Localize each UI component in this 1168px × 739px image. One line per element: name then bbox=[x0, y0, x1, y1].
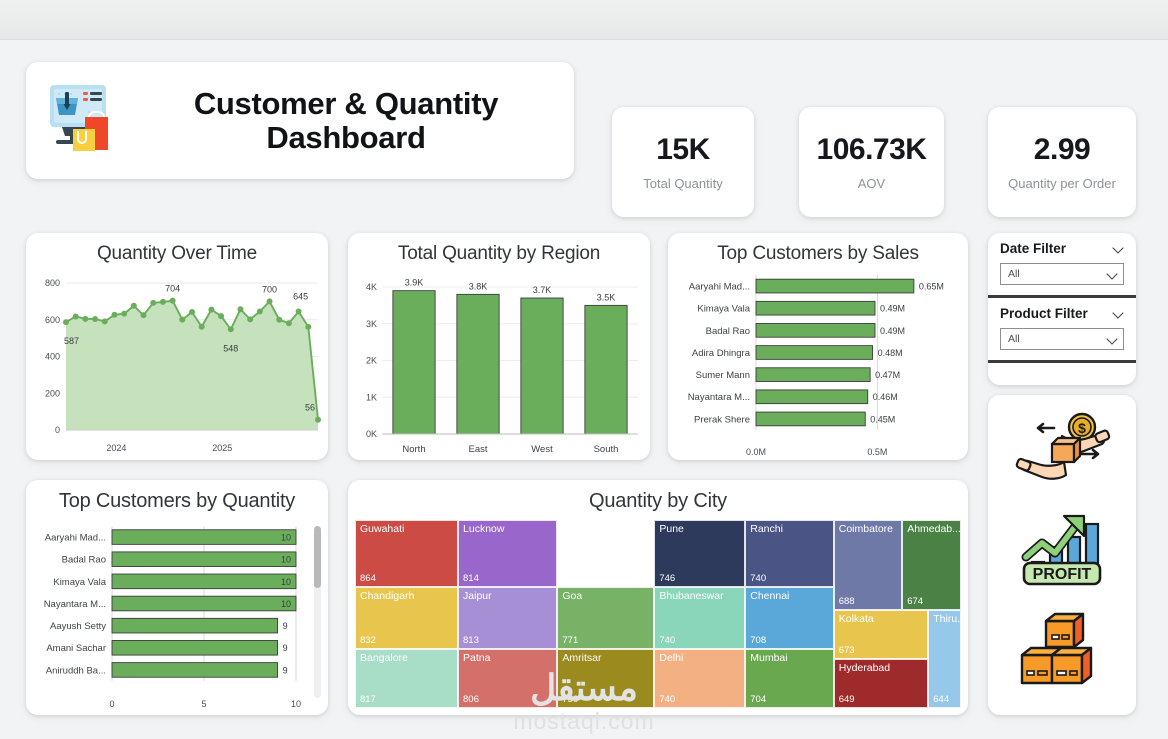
dashboard-title-card: Customer & Quantity Dashboard bbox=[26, 62, 574, 179]
treemap-body: Guwahati864Chandigarh832Bangalore817Luck… bbox=[355, 520, 961, 708]
treemap-tile[interactable]: Bangalore817 bbox=[355, 649, 458, 708]
treemap-tile[interactable]: Kolkata673 bbox=[834, 610, 929, 659]
kpi-card-aov: 106.73K AOV bbox=[799, 107, 944, 217]
svg-text:3.9K: 3.9K bbox=[405, 278, 424, 288]
svg-text:3.5K: 3.5K bbox=[597, 292, 616, 302]
treemap-tile-label: Amritsar bbox=[562, 652, 601, 664]
svg-text:0.46M: 0.46M bbox=[873, 392, 898, 402]
svg-text:0.45M: 0.45M bbox=[870, 414, 895, 424]
svg-text:9: 9 bbox=[283, 621, 288, 631]
treemap-tile[interactable]: Lucknow814 bbox=[458, 520, 557, 587]
svg-text:North: North bbox=[402, 444, 425, 455]
treemap-tile-label: Bangalore bbox=[360, 652, 408, 664]
svg-text:548: 548 bbox=[223, 343, 238, 353]
profit-label: PROFIT bbox=[1033, 566, 1092, 583]
treemap-tile-label: Hyderabad bbox=[839, 662, 890, 674]
treemap-tile-value: 806 bbox=[463, 694, 479, 705]
kpi-card-total-quantity: 15K Total Quantity bbox=[612, 107, 754, 217]
treemap-tile-label: Mumbai bbox=[750, 652, 787, 664]
svg-text:9: 9 bbox=[283, 643, 288, 653]
chart-top-customers-by-sales[interactable]: Top Customers by Sales 0.0M0.5MAaryahi M… bbox=[668, 233, 968, 460]
treemap-tile-label: Ahmedab... bbox=[907, 523, 961, 535]
chart-quantity-over-time[interactable]: Quantity Over Time 020040060080020242025… bbox=[26, 233, 328, 460]
svg-text:0.49M: 0.49M bbox=[880, 304, 905, 314]
treemap-tile[interactable]: Guwahati864 bbox=[355, 520, 458, 587]
svg-text:0.47M: 0.47M bbox=[875, 370, 900, 380]
svg-text:0.48M: 0.48M bbox=[878, 348, 903, 358]
treemap-tile-value: 688 bbox=[839, 596, 855, 607]
treemap-tile-label: Thiru... bbox=[933, 613, 961, 625]
svg-text:587: 587 bbox=[64, 336, 79, 346]
svg-text:Badal Rao: Badal Rao bbox=[706, 326, 750, 337]
svg-text:600: 600 bbox=[45, 315, 60, 325]
svg-text:Nayantara M...: Nayantara M... bbox=[44, 599, 106, 610]
treemap-tile-value: 704 bbox=[750, 694, 766, 705]
svg-text:Kimaya Vala: Kimaya Vala bbox=[697, 304, 750, 315]
svg-text:Prerak Shere: Prerak Shere bbox=[694, 414, 750, 425]
treemap-tile-value: 790 bbox=[562, 573, 578, 584]
svg-text:3.7K: 3.7K bbox=[533, 285, 552, 295]
treemap-tile-label: Surat bbox=[562, 523, 587, 535]
svg-text:Adira Dhingra: Adira Dhingra bbox=[692, 348, 751, 359]
svg-text:0.0M: 0.0M bbox=[746, 447, 766, 457]
treemap-tile-value: 864 bbox=[360, 573, 376, 584]
svg-text:Aaryahi Mad...: Aaryahi Mad... bbox=[689, 281, 750, 292]
decorative-icons-panel: $ bbox=[988, 395, 1136, 715]
chart-title: Top Customers by Quantity bbox=[26, 480, 328, 513]
svg-text:0.5M: 0.5M bbox=[867, 447, 887, 457]
chevron-down-icon[interactable] bbox=[1113, 310, 1124, 317]
treemap-tile-value: 740 bbox=[659, 635, 675, 646]
svg-text:645: 645 bbox=[293, 291, 308, 301]
svg-text:10: 10 bbox=[291, 699, 301, 709]
svg-text:Nayantara M...: Nayantara M... bbox=[688, 392, 750, 403]
treemap-tile[interactable]: Ranchi740 bbox=[745, 520, 833, 587]
treemap-tile[interactable]: Bhubaneswar740 bbox=[654, 587, 745, 649]
treemap-tile-label: Ranchi bbox=[750, 523, 783, 535]
svg-text:Badal Rao: Badal Rao bbox=[62, 555, 106, 566]
divider bbox=[988, 360, 1136, 363]
treemap-tile-value: 740 bbox=[659, 694, 675, 705]
treemap-tile[interactable]: Chennai708 bbox=[745, 587, 833, 649]
treemap-tile-label: Delhi bbox=[659, 652, 683, 664]
slicer-product-filter[interactable]: Product Filter All bbox=[988, 298, 1136, 360]
kpi-value: 15K bbox=[656, 133, 710, 167]
treemap-tile[interactable]: Surat790 bbox=[557, 520, 654, 587]
svg-text:10: 10 bbox=[281, 532, 291, 542]
profit-growth-chart-icon: PROFIT bbox=[1012, 507, 1112, 596]
area-chart-svg: 02004006008002024202558770454870064556 bbox=[26, 261, 328, 460]
slicer-title: Product Filter bbox=[1000, 306, 1088, 321]
treemap-tile-value: 644 bbox=[933, 694, 949, 705]
kpi-label: Total Quantity bbox=[643, 176, 723, 191]
treemap-tile[interactable]: Patna806 bbox=[458, 649, 557, 708]
svg-text:0: 0 bbox=[55, 425, 60, 435]
app-chrome-strip bbox=[0, 0, 1168, 40]
treemap-tile-value: 832 bbox=[360, 635, 376, 646]
svg-text:Sumer Mann: Sumer Mann bbox=[696, 370, 750, 381]
slicer-title: Date Filter bbox=[1000, 241, 1066, 256]
svg-text:Amani Sachar: Amani Sachar bbox=[46, 643, 106, 654]
kpi-card-quantity-per-order: 2.99 Quantity per Order bbox=[988, 107, 1136, 217]
treemap-tile[interactable]: Chandigarh832 bbox=[355, 587, 458, 649]
svg-text:$: $ bbox=[1078, 420, 1086, 436]
treemap-tile-label: Patna bbox=[463, 652, 490, 664]
svg-text:3.8K: 3.8K bbox=[469, 281, 488, 291]
svg-text:Aayush Setty: Aayush Setty bbox=[50, 621, 106, 632]
treemap-tile-value: 746 bbox=[659, 573, 675, 584]
svg-text:2025: 2025 bbox=[212, 443, 232, 453]
treemap-tile[interactable]: Delhi740 bbox=[654, 649, 745, 708]
treemap-tile-label: Chennai bbox=[750, 590, 789, 602]
treemap-tile[interactable]: Ahmedab...674 bbox=[902, 520, 961, 610]
chevron-down-icon[interactable] bbox=[1113, 245, 1124, 252]
svg-text:2024: 2024 bbox=[106, 443, 126, 453]
treemap-tile[interactable]: Mumbai704 bbox=[745, 649, 833, 708]
treemap-tile-label: Kolkata bbox=[839, 613, 874, 625]
svg-text:Aniruddh Ba...: Aniruddh Ba... bbox=[46, 665, 106, 676]
treemap-tile-value: 750 bbox=[562, 694, 578, 705]
treemap-tile[interactable]: Amritsar750 bbox=[557, 649, 654, 708]
svg-text:South: South bbox=[594, 444, 619, 455]
kpi-value: 2.99 bbox=[1034, 133, 1090, 167]
svg-text:3K: 3K bbox=[366, 319, 377, 329]
stacked-boxes-icon bbox=[1012, 611, 1112, 700]
sales-hbar-chart-svg: 0.0M0.5MAaryahi Mad...0.65MKimaya Vala0.… bbox=[668, 263, 968, 460]
date-filter-value: All bbox=[1008, 268, 1020, 280]
treemap-tile-value: 674 bbox=[907, 596, 923, 607]
svg-text:0.49M: 0.49M bbox=[880, 326, 905, 336]
svg-text:200: 200 bbox=[45, 388, 60, 398]
svg-text:0K: 0K bbox=[366, 429, 377, 439]
chart-top-customers-by-quantity[interactable]: Top Customers by Quantity 0510Aaryahi Ma… bbox=[26, 480, 328, 715]
treemap-tile-label: Guwahati bbox=[360, 523, 404, 535]
svg-text:400: 400 bbox=[45, 352, 60, 362]
date-filter-dropdown[interactable]: All bbox=[1000, 263, 1124, 285]
ecommerce-monitor-shopping-icon bbox=[44, 81, 122, 160]
slicer-date-filter[interactable]: Date Filter All bbox=[988, 233, 1136, 295]
chart-scrollbar[interactable] bbox=[314, 526, 321, 698]
treemap-tile[interactable]: Jaipur813 bbox=[458, 587, 557, 649]
product-filter-dropdown[interactable]: All bbox=[1000, 328, 1124, 350]
svg-text:5: 5 bbox=[201, 699, 206, 709]
treemap-tile-value: 649 bbox=[839, 694, 855, 705]
kpi-value: 106.73K bbox=[817, 133, 927, 167]
treemap-tile-label: Goa bbox=[562, 590, 582, 602]
svg-text:56: 56 bbox=[305, 403, 315, 413]
treemap-tile-label: Coimbatore bbox=[839, 523, 893, 535]
svg-text:10: 10 bbox=[281, 599, 291, 609]
svg-text:9: 9 bbox=[283, 665, 288, 675]
svg-text:1K: 1K bbox=[366, 392, 377, 402]
svg-text:East: East bbox=[468, 444, 487, 455]
svg-text:Kimaya Vala: Kimaya Vala bbox=[53, 577, 106, 588]
product-filter-value: All bbox=[1008, 333, 1020, 345]
svg-text:West: West bbox=[531, 444, 553, 455]
chart-quantity-by-city[interactable]: Quantity by City Guwahati864Chandigarh83… bbox=[348, 480, 968, 715]
treemap-tile-value: 740 bbox=[750, 573, 766, 584]
treemap-tile-value: 813 bbox=[463, 635, 479, 646]
kpi-label: Quantity per Order bbox=[1008, 176, 1116, 191]
svg-text:4K: 4K bbox=[366, 282, 377, 292]
svg-text:800: 800 bbox=[45, 278, 60, 288]
svg-text:0: 0 bbox=[109, 699, 114, 709]
treemap-tile-value: 673 bbox=[839, 645, 855, 656]
treemap-tile-label: Bhubaneswar bbox=[659, 590, 723, 602]
treemap-tile-label: Jaipur bbox=[463, 590, 492, 602]
chart-total-quantity-by-region[interactable]: Total Quantity by Region 0K1K2K3K4K3.9KN… bbox=[348, 233, 650, 460]
svg-text:2K: 2K bbox=[366, 356, 377, 366]
treemap-tile[interactable]: Pune746 bbox=[654, 520, 745, 587]
chart-scrollbar-thumb[interactable] bbox=[314, 526, 321, 588]
page-title: Customer & Quantity Dashboard bbox=[136, 87, 556, 154]
chart-title: Top Customers by Sales bbox=[668, 233, 968, 265]
kpi-label: AOV bbox=[858, 176, 885, 191]
chart-title: Quantity by City bbox=[348, 480, 968, 513]
chevron-down-icon[interactable] bbox=[1107, 336, 1118, 343]
filters-panel: Date Filter All Product Filter All bbox=[988, 233, 1136, 385]
svg-text:700: 700 bbox=[262, 284, 277, 294]
treemap-tile-value: 817 bbox=[360, 694, 376, 705]
report-canvas: Customer & Quantity Dashboard 15K Total … bbox=[0, 40, 1168, 739]
svg-text:10: 10 bbox=[281, 577, 291, 587]
treemap-tile[interactable]: Goa771 bbox=[557, 587, 654, 649]
chevron-down-icon[interactable] bbox=[1107, 271, 1118, 278]
treemap-tile[interactable]: Hyderabad649 bbox=[834, 659, 929, 708]
svg-text:704: 704 bbox=[165, 284, 180, 294]
svg-text:Aaryahi Mad...: Aaryahi Mad... bbox=[45, 532, 106, 543]
treemap-tile-label: Chandigarh bbox=[360, 590, 414, 602]
treemap-tile-label: Pune bbox=[659, 523, 684, 535]
treemap-tile[interactable]: Thiru...644 bbox=[928, 610, 961, 708]
money-package-exchange-icon: $ bbox=[1012, 410, 1112, 493]
quantity-hbar-chart-svg: 0510Aaryahi Mad...10Badal Rao10Kimaya Va… bbox=[26, 520, 328, 715]
treemap-tile-value: 814 bbox=[463, 573, 479, 584]
treemap-tile-value: 708 bbox=[750, 635, 766, 646]
treemap-tile-label: Lucknow bbox=[463, 523, 504, 535]
region-bar-chart-svg: 0K1K2K3K4K3.9KNorth3.8KEast3.7KWest3.5KS… bbox=[348, 261, 650, 460]
svg-text:10: 10 bbox=[281, 555, 291, 565]
treemap-tile-value: 771 bbox=[562, 635, 578, 646]
svg-text:0.65M: 0.65M bbox=[919, 281, 944, 291]
dashboard-page: Customer & Quantity Dashboard 15K Total … bbox=[0, 0, 1168, 739]
treemap-tile[interactable]: Coimbatore688 bbox=[834, 520, 902, 610]
